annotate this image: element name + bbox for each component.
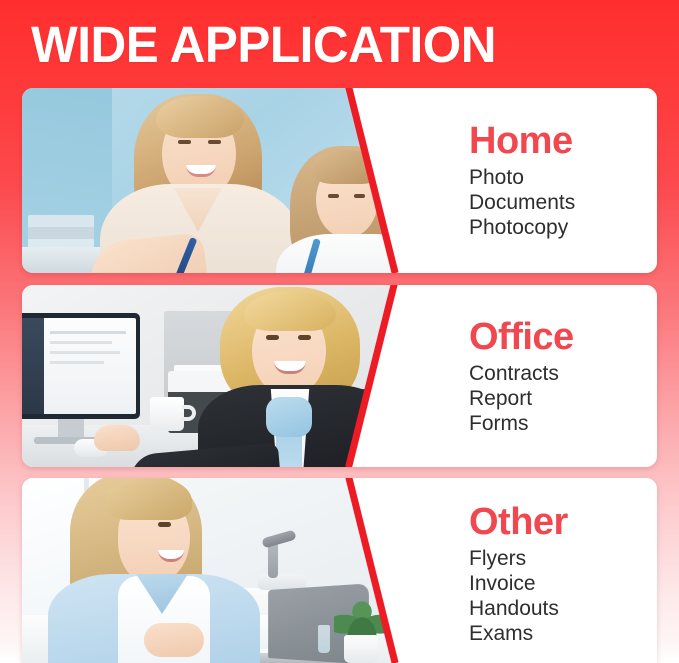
list-item: Report [469, 386, 647, 411]
list-item: Handouts [469, 596, 647, 621]
list-item: Photo [469, 165, 647, 190]
list-item: Exams [469, 621, 647, 646]
list-item: Forms [469, 411, 647, 436]
card-list-office: Contracts Report Forms [469, 361, 647, 436]
list-item: Photocopy [469, 215, 647, 240]
application-card-other: Other Flyers Invoice Handouts Exams [22, 478, 657, 663]
card-list-home: Photo Documents Photocopy [469, 165, 647, 240]
card-body-office: Office Contracts Report Forms [469, 285, 647, 467]
card-heading-home: Home [469, 119, 647, 163]
list-item: Flyers [469, 546, 647, 571]
list-item: Documents [469, 190, 647, 215]
application-card-home: Home Photo Documents Photocopy [22, 88, 657, 273]
card-body-other: Other Flyers Invoice Handouts Exams [469, 478, 647, 663]
card-body-home: Home Photo Documents Photocopy [469, 88, 647, 273]
page-title: WIDE APPLICATION [31, 17, 613, 73]
card-heading-other: Other [469, 500, 647, 544]
card-list-other: Flyers Invoice Handouts Exams [469, 546, 647, 646]
list-item: Invoice [469, 571, 647, 596]
list-item: Contracts [469, 361, 647, 386]
card-heading-office: Office [469, 315, 647, 359]
application-card-office: Office Contracts Report Forms [22, 285, 657, 467]
